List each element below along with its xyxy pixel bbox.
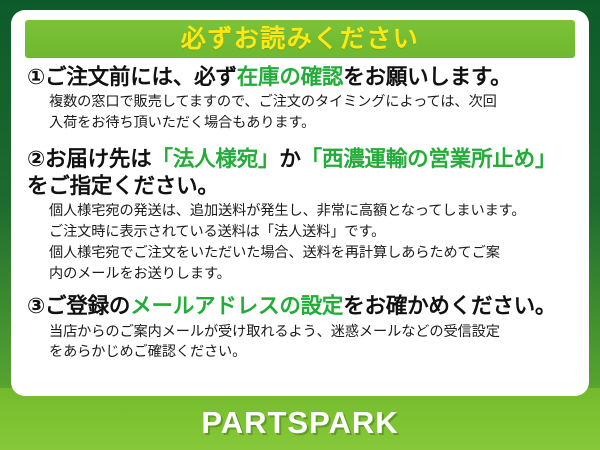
item-1-text-part-1: ご注文前には、必ず [45, 65, 237, 89]
notice-item-3: ③ご登録のメールアドレスの設定をお確かめください。 当店からのご案内メールが受け… [27, 293, 573, 363]
item-3-text-part-1: ご登録の [45, 294, 130, 318]
header-title: 必ずお読みください [181, 27, 420, 52]
notice-item-2: ②お届け先は「法人様宛」か「西濃運輸の営業所止め」をご指定ください。 個人様宅宛… [27, 146, 573, 285]
item-2-highlight-1: 「法人様宛」 [152, 147, 280, 171]
item-1-text-part-2: をお願いします。 [343, 65, 511, 89]
notice-item-2-body: 個人様宅宛の発送は、追加送料が発生し、非常に高額となってしまいます。 ご注文時に… [49, 201, 573, 285]
item-2-body-line-2: ご注文時に表示されている送料は「法人送料」です。 [49, 222, 573, 243]
header-banner: 必ずお読みください [25, 20, 575, 58]
footer: PARTSPARK [0, 396, 600, 450]
item-2-text-part-3: をご指定ください。 [27, 174, 219, 198]
notice-item-1-body: 複数の窓口で販売してますので、ご注文のタイミングによっては、次回 入荷をお待ち頂… [49, 92, 573, 134]
item-2-text-part-1: お届け先は [45, 147, 152, 171]
item-1-body-line-2: 入荷をお待ち頂いただく場合もあります。 [49, 113, 573, 134]
item-marker-2: ② [27, 147, 45, 171]
item-2-text-part-2: か [279, 147, 300, 171]
notice-item-1-heading: ①ご注文前には、必ず在庫の確認をお願いします。 [27, 64, 573, 91]
item-2-body-line-3: 個人様宅宛でご注文をいただいた場合、送料を再計算しあらためてご案 [49, 243, 573, 264]
notice-item-2-heading: ②お届け先は「法人様宛」か「西濃運輸の営業所止め」をご指定ください。 [27, 146, 573, 200]
content-panel: 必ずお読みください ①ご注文前には、必ず在庫の確認をお願いします。 複数の窓口で… [11, 10, 589, 396]
item-2-body-line-1: 個人様宅宛の発送は、追加送料が発生し、非常に高額となってしまいます。 [49, 201, 573, 222]
item-3-text-part-2: をお確かめください。 [343, 294, 556, 318]
notice-frame: 必ずお読みください ①ご注文前には、必ず在庫の確認をお願いします。 複数の窓口で… [0, 0, 600, 450]
item-3-highlight-1: メールアドレスの設定 [130, 294, 343, 318]
item-3-body-line-2: をあらかじめご確認ください。 [49, 342, 573, 363]
notice-item-3-heading: ③ご登録のメールアドレスの設定をお確かめください。 [27, 293, 573, 320]
item-marker-1: ① [27, 65, 45, 89]
item-2-body-line-4: 内のメールをお送りします。 [49, 264, 573, 285]
notice-item-3-body: 当店からのご案内メールが受け取れるよう、迷惑メールなどの受信設定 をあらかじめご… [49, 322, 573, 364]
item-marker-3: ③ [27, 294, 45, 318]
brand-logo-text: PARTSPARK [201, 405, 398, 441]
item-1-body-line-1: 複数の窓口で販売してますので、ご注文のタイミングによっては、次回 [49, 92, 573, 113]
notice-item-1: ①ご注文前には、必ず在庫の確認をお願いします。 複数の窓口で販売してますので、ご… [27, 64, 573, 134]
notice-item-list: ①ご注文前には、必ず在庫の確認をお願いします。 複数の窓口で販売してますので、ご… [21, 58, 579, 363]
item-2-highlight-2: 「西濃運輸の営業所止め」 [301, 147, 557, 171]
item-3-body-line-1: 当店からのご案内メールが受け取れるよう、迷惑メールなどの受信設定 [49, 322, 573, 343]
item-1-highlight-1: 在庫の確認 [237, 65, 344, 89]
